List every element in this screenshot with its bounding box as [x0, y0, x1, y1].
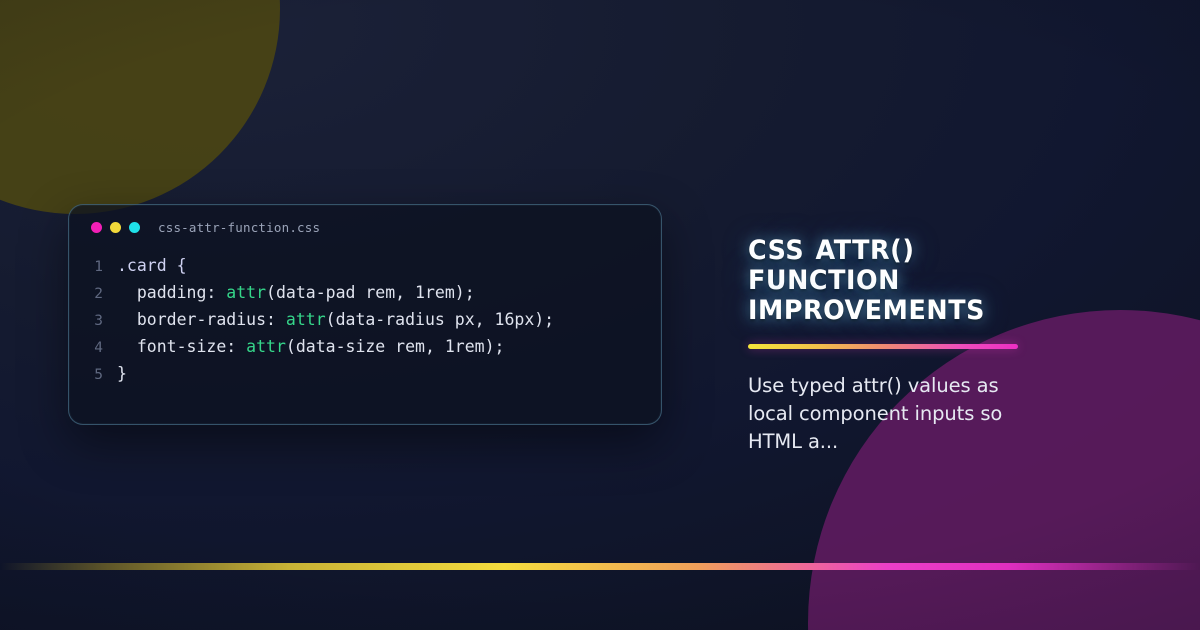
code-token-function: attr — [226, 283, 266, 302]
code-token-function: attr — [246, 337, 286, 356]
page-title: CSS ATTR() FUNCTION IMPROVEMENTS — [748, 236, 1124, 326]
window-maximize-dot-icon[interactable] — [129, 222, 140, 233]
line-number: 2 — [69, 281, 117, 307]
window-minimize-dot-icon[interactable] — [110, 222, 121, 233]
line-number: 1 — [69, 254, 117, 280]
code-line-text: padding: attr(data-pad rem, 1rem); — [117, 280, 475, 306]
window-close-dot-icon[interactable] — [91, 222, 102, 233]
code-indent — [117, 310, 137, 329]
code-body: 1 .card { 2 padding: attr(data-pad rem, … — [69, 249, 661, 388]
code-line: 2 padding: attr(data-pad rem, 1rem); — [69, 280, 661, 307]
code-line-text: .card { — [117, 253, 187, 279]
bottom-gradient-rule — [0, 563, 1200, 570]
code-token-rest: (data-radius px, 16px); — [326, 310, 554, 329]
code-token-rest: (data-pad rem, 1rem); — [266, 283, 475, 302]
code-filename-label: css-attr-function.css — [158, 220, 320, 235]
code-token-property: border-radius: — [137, 310, 286, 329]
code-line: 5 } — [69, 361, 661, 388]
code-token-property: padding: — [137, 283, 226, 302]
code-token-property: font-size: — [137, 337, 246, 356]
accent-underline — [748, 344, 1018, 349]
line-number: 4 — [69, 335, 117, 361]
code-token-brace: } — [117, 364, 127, 383]
code-token-rest: (data-size rem, 1rem); — [286, 337, 505, 356]
code-line: 1 .card { — [69, 253, 661, 280]
line-number: 3 — [69, 308, 117, 334]
page-title-line-2: FUNCTION IMPROVEMENTS — [748, 266, 1124, 326]
code-token-function: attr — [286, 310, 326, 329]
og-image-card: css-attr-function.css 1 .card { 2 paddin… — [0, 0, 1200, 630]
code-line: 4 font-size: attr(data-size rem, 1rem); — [69, 334, 661, 361]
page-title-line-1: CSS ATTR() — [748, 236, 1124, 266]
code-line-text: border-radius: attr(data-radius px, 16px… — [117, 307, 554, 333]
code-card-titlebar: css-attr-function.css — [69, 205, 661, 249]
code-indent — [117, 337, 137, 356]
code-token-selector: .card { — [117, 256, 187, 275]
code-line: 3 border-radius: attr(data-radius px, 16… — [69, 307, 661, 334]
code-line-text: } — [117, 361, 127, 387]
headline-column: CSS ATTR() FUNCTION IMPROVEMENTS Use typ… — [748, 236, 1148, 456]
page-subtitle: Use typed attr() values as local compone… — [748, 372, 1048, 456]
code-line-text: font-size: attr(data-size rem, 1rem); — [117, 334, 504, 360]
code-indent — [117, 283, 137, 302]
code-snippet-card: css-attr-function.css 1 .card { 2 paddin… — [68, 204, 662, 425]
olive-circle-decoration — [0, 0, 280, 214]
line-number: 5 — [69, 362, 117, 388]
